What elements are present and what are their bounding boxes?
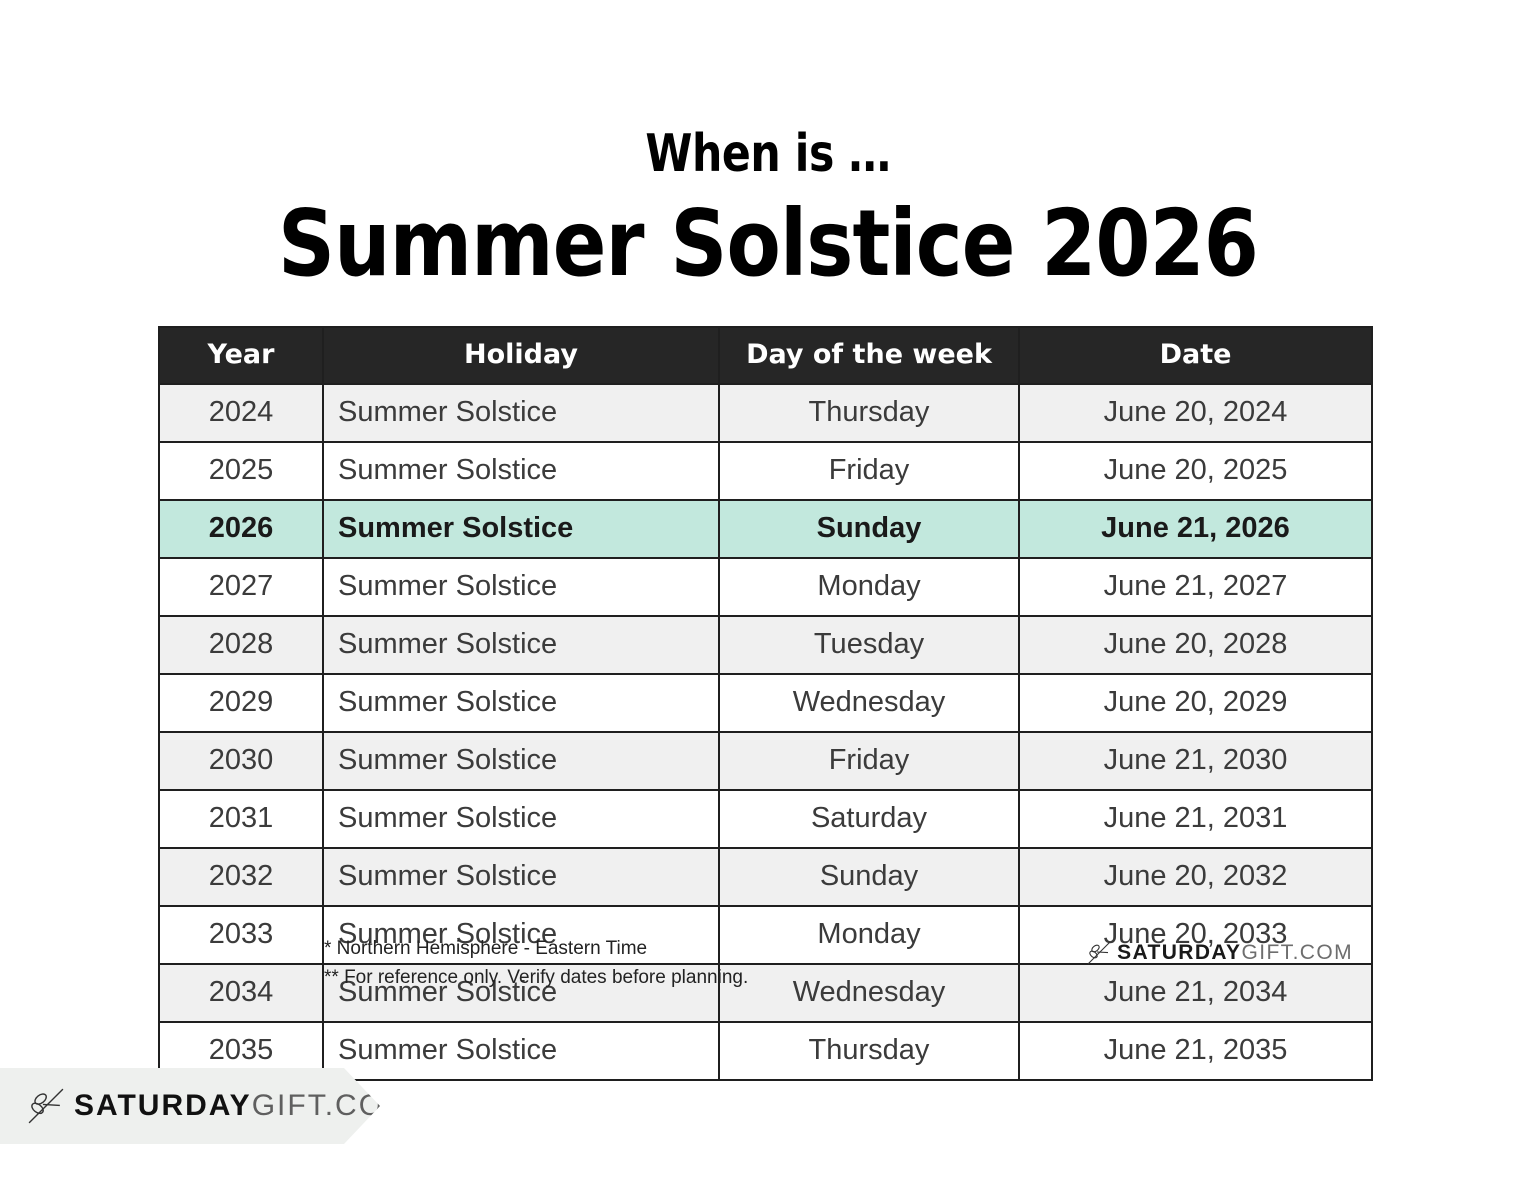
cell-year: 2031 [159,790,323,848]
cell-day: Sunday [719,500,1019,558]
cell-year: 2029 [159,674,323,732]
cell-date: June 21, 2030 [1019,732,1372,790]
cell-year: 2025 [159,442,323,500]
brand-name-bold: SATURDAY [1117,941,1241,964]
cell-holiday: Summer Solstice [323,674,719,732]
cell-day: Sunday [719,848,1019,906]
cell-holiday: Summer Solstice [323,500,719,558]
cell-day: Friday [719,442,1019,500]
bow-scissors-icon [26,1086,66,1126]
table-header: Year Holiday Day of the week Date [159,327,1372,384]
table-row: 2024Summer SolsticeThursdayJune 20, 2024 [159,384,1372,442]
cell-holiday: Summer Solstice [323,790,719,848]
cell-date: June 20, 2028 [1019,616,1372,674]
cell-holiday: Summer Solstice [323,442,719,500]
brand-logo-large-text: SATURDAYGIFT.COM [74,1089,411,1123]
footnote-disclaimer: ** For reference only. Verify dates befo… [324,963,748,992]
footnotes: * Northern Hemisphere - Eastern Time ** … [324,930,748,993]
brand-name-light: GIFT.COM [252,1089,411,1122]
footnote-hemisphere: * Northern Hemisphere - Eastern Time [324,934,748,963]
cell-holiday: Summer Solstice [323,558,719,616]
page-kicker: When is … [138,128,1398,180]
cell-holiday: Summer Solstice [323,616,719,674]
cell-day: Friday [719,732,1019,790]
cell-date: June 21, 2027 [1019,558,1372,616]
brand-name-light: GIFT.COM [1241,941,1353,964]
cell-year: 2024 [159,384,323,442]
cell-date: June 20, 2029 [1019,674,1372,732]
table-row: 2027Summer SolsticeMondayJune 21, 2027 [159,558,1372,616]
cell-year: 2026 [159,500,323,558]
cell-holiday: Summer Solstice [323,1022,719,1080]
cell-date: June 21, 2035 [1019,1022,1372,1080]
bow-scissors-icon [1086,940,1112,966]
cell-day: Thursday [719,1022,1019,1080]
cell-year: 2030 [159,732,323,790]
page-title: Summer Solstice 2026 [108,196,1429,293]
brand-banner[interactable]: SATURDAYGIFT.COM [0,1068,380,1144]
cell-year: 2027 [159,558,323,616]
column-header-holiday: Holiday [323,327,719,384]
table-row: 2028Summer SolsticeTuesdayJune 20, 2028 [159,616,1372,674]
cell-date: June 21, 2026 [1019,500,1372,558]
table-row: 2030Summer SolsticeFridayJune 21, 2030 [159,732,1372,790]
cell-holiday: Summer Solstice [323,732,719,790]
cell-date: June 20, 2025 [1019,442,1372,500]
table-row: 2029Summer SolsticeWednesdayJune 20, 202… [159,674,1372,732]
table-footer: * Northern Hemisphere - Eastern Time ** … [158,930,1371,1002]
cell-day: Monday [719,558,1019,616]
brand-name-bold: SATURDAY [74,1089,252,1122]
brand-logo-large[interactable]: SATURDAYGIFT.COM [26,1086,411,1126]
table-row: 2031Summer SolsticeSaturdayJune 21, 2031 [159,790,1372,848]
brand-logo-small[interactable]: SATURDAYGIFT.COM [1086,930,1353,966]
cell-day: Saturday [719,790,1019,848]
cell-date: June 20, 2032 [1019,848,1372,906]
cell-year: 2028 [159,616,323,674]
column-header-year: Year [159,327,323,384]
table-row: 2025Summer SolsticeFridayJune 20, 2025 [159,442,1372,500]
cell-day: Thursday [719,384,1019,442]
column-header-day: Day of the week [719,327,1019,384]
table-row: 2032Summer SolsticeSundayJune 20, 2032 [159,848,1372,906]
cell-day: Wednesday [719,674,1019,732]
cell-date: June 20, 2024 [1019,384,1372,442]
table-header-row: Year Holiday Day of the week Date [159,327,1372,384]
table-row: 2026Summer SolsticeSundayJune 21, 2026 [159,500,1372,558]
cell-holiday: Summer Solstice [323,384,719,442]
cell-day: Tuesday [719,616,1019,674]
column-header-date: Date [1019,327,1372,384]
brand-logo-small-text: SATURDAYGIFT.COM [1117,941,1353,965]
cell-holiday: Summer Solstice [323,848,719,906]
cell-year: 2032 [159,848,323,906]
page-header: When is … Summer Solstice 2026 [0,128,1536,293]
cell-date: June 21, 2031 [1019,790,1372,848]
